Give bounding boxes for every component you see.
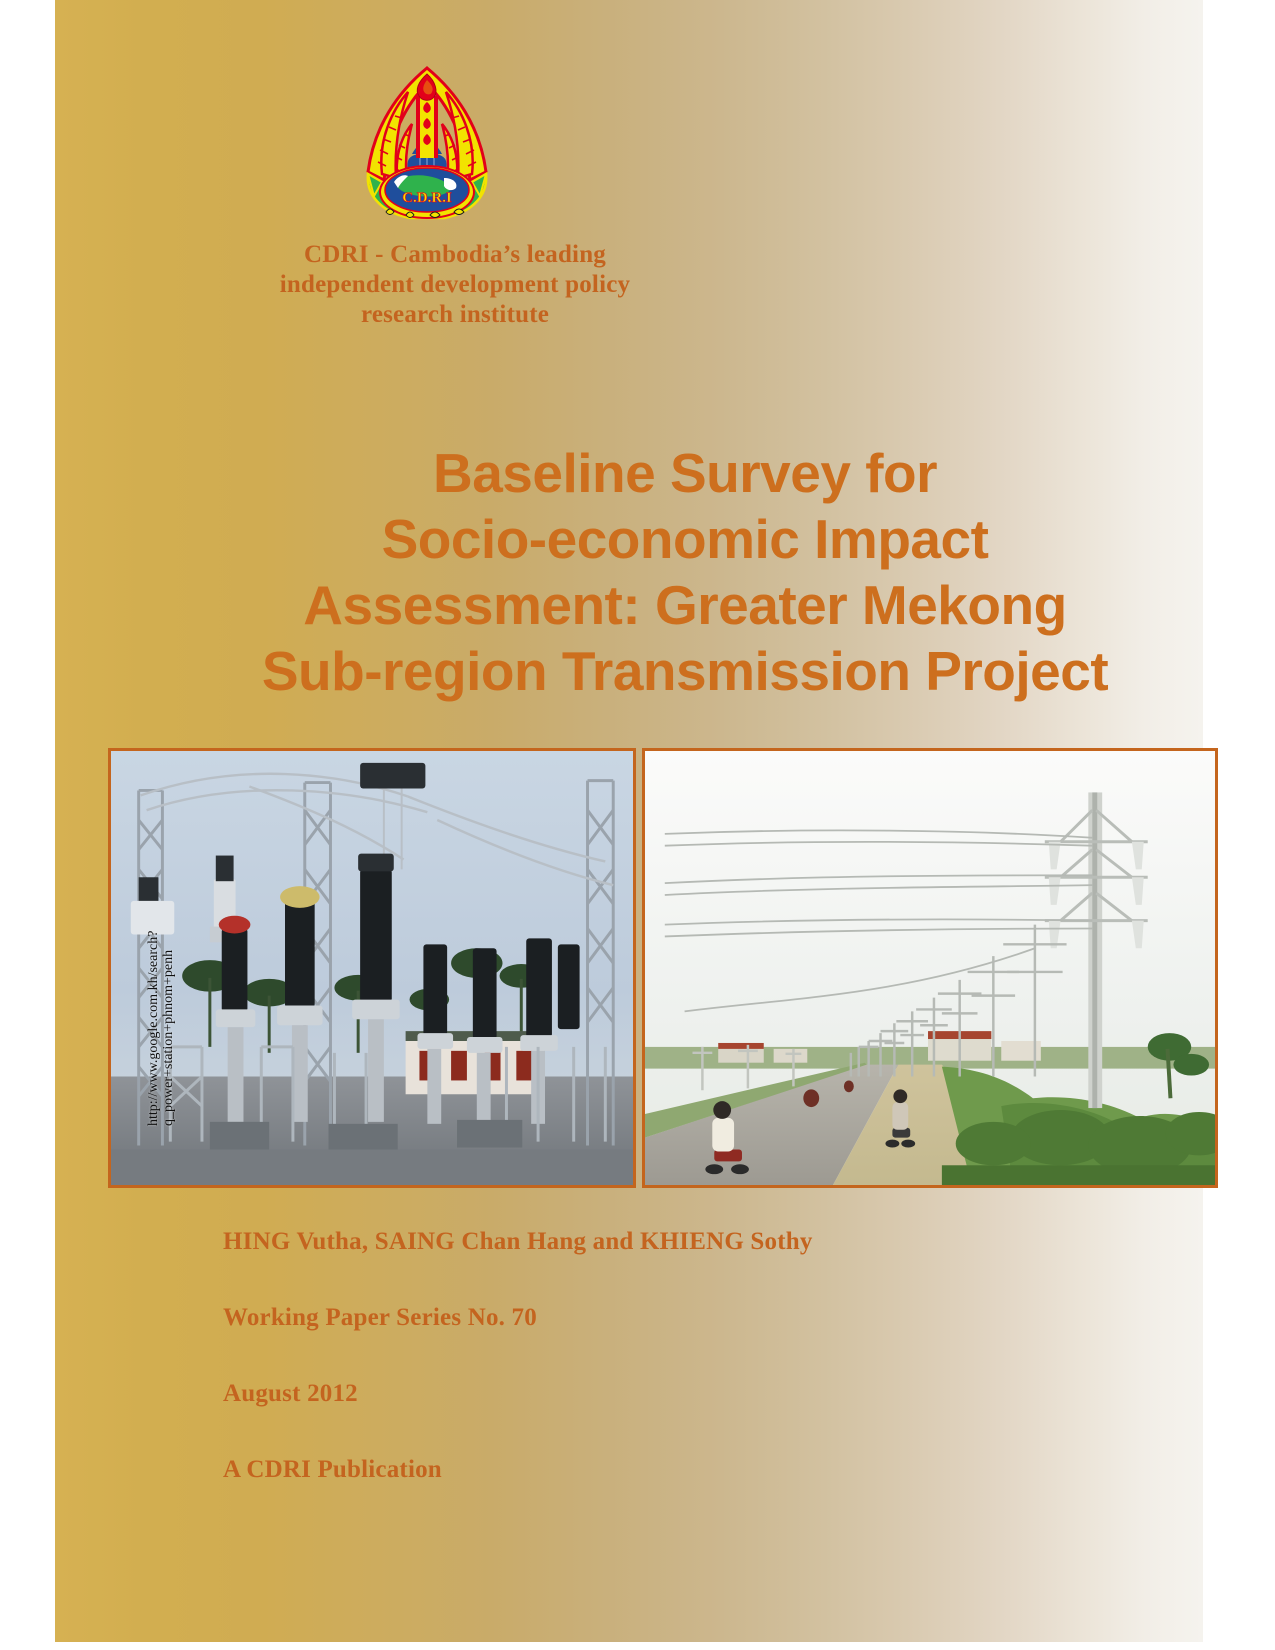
title-line-4: Sub-region Transmission Project — [175, 638, 1195, 704]
title-line-2: Socio-economic Impact — [175, 506, 1195, 572]
authors-line: HING Vutha, SAING Chan Hang and KHIENG S… — [223, 1228, 1173, 1256]
publication-meta: HING Vutha, SAING Chan Hang and KHIENG S… — [223, 1228, 1173, 1484]
tagline-line-1: CDRI - Cambodia’s leading — [110, 240, 800, 270]
date-line: August 2012 — [223, 1380, 1173, 1408]
logo-initials-text: C.D.R.I — [402, 190, 452, 206]
title-line-3: Assessment: Greater Mekong — [175, 572, 1195, 638]
cover-photo-band: http://www.google.com.kh/search? q_power… — [108, 748, 1218, 1188]
cover-background-panel: C.D.R.I CDRI - Cambodia’s leading indepe… — [55, 0, 1203, 1642]
organisation-tagline: CDRI - Cambodia’s leading independent de… — [110, 240, 800, 330]
tagline-line-2: independent development policy — [110, 270, 800, 300]
title-line-1: Baseline Survey for — [175, 440, 1195, 506]
cdri-logo: C.D.R.I — [338, 62, 516, 230]
page-title: Baseline Survey for Socio-economic Impac… — [175, 440, 1195, 704]
document-cover-page: C.D.R.I CDRI - Cambodia’s leading indepe… — [0, 0, 1275, 1650]
publisher-line: A CDRI Publication — [223, 1456, 1173, 1484]
series-line: Working Paper Series No. 70 — [223, 1304, 1173, 1332]
tagline-line-3: research institute — [110, 300, 800, 330]
transmission-line-road-photo — [642, 748, 1218, 1188]
power-substation-photo: http://www.google.com.kh/search? q_power… — [108, 748, 636, 1188]
